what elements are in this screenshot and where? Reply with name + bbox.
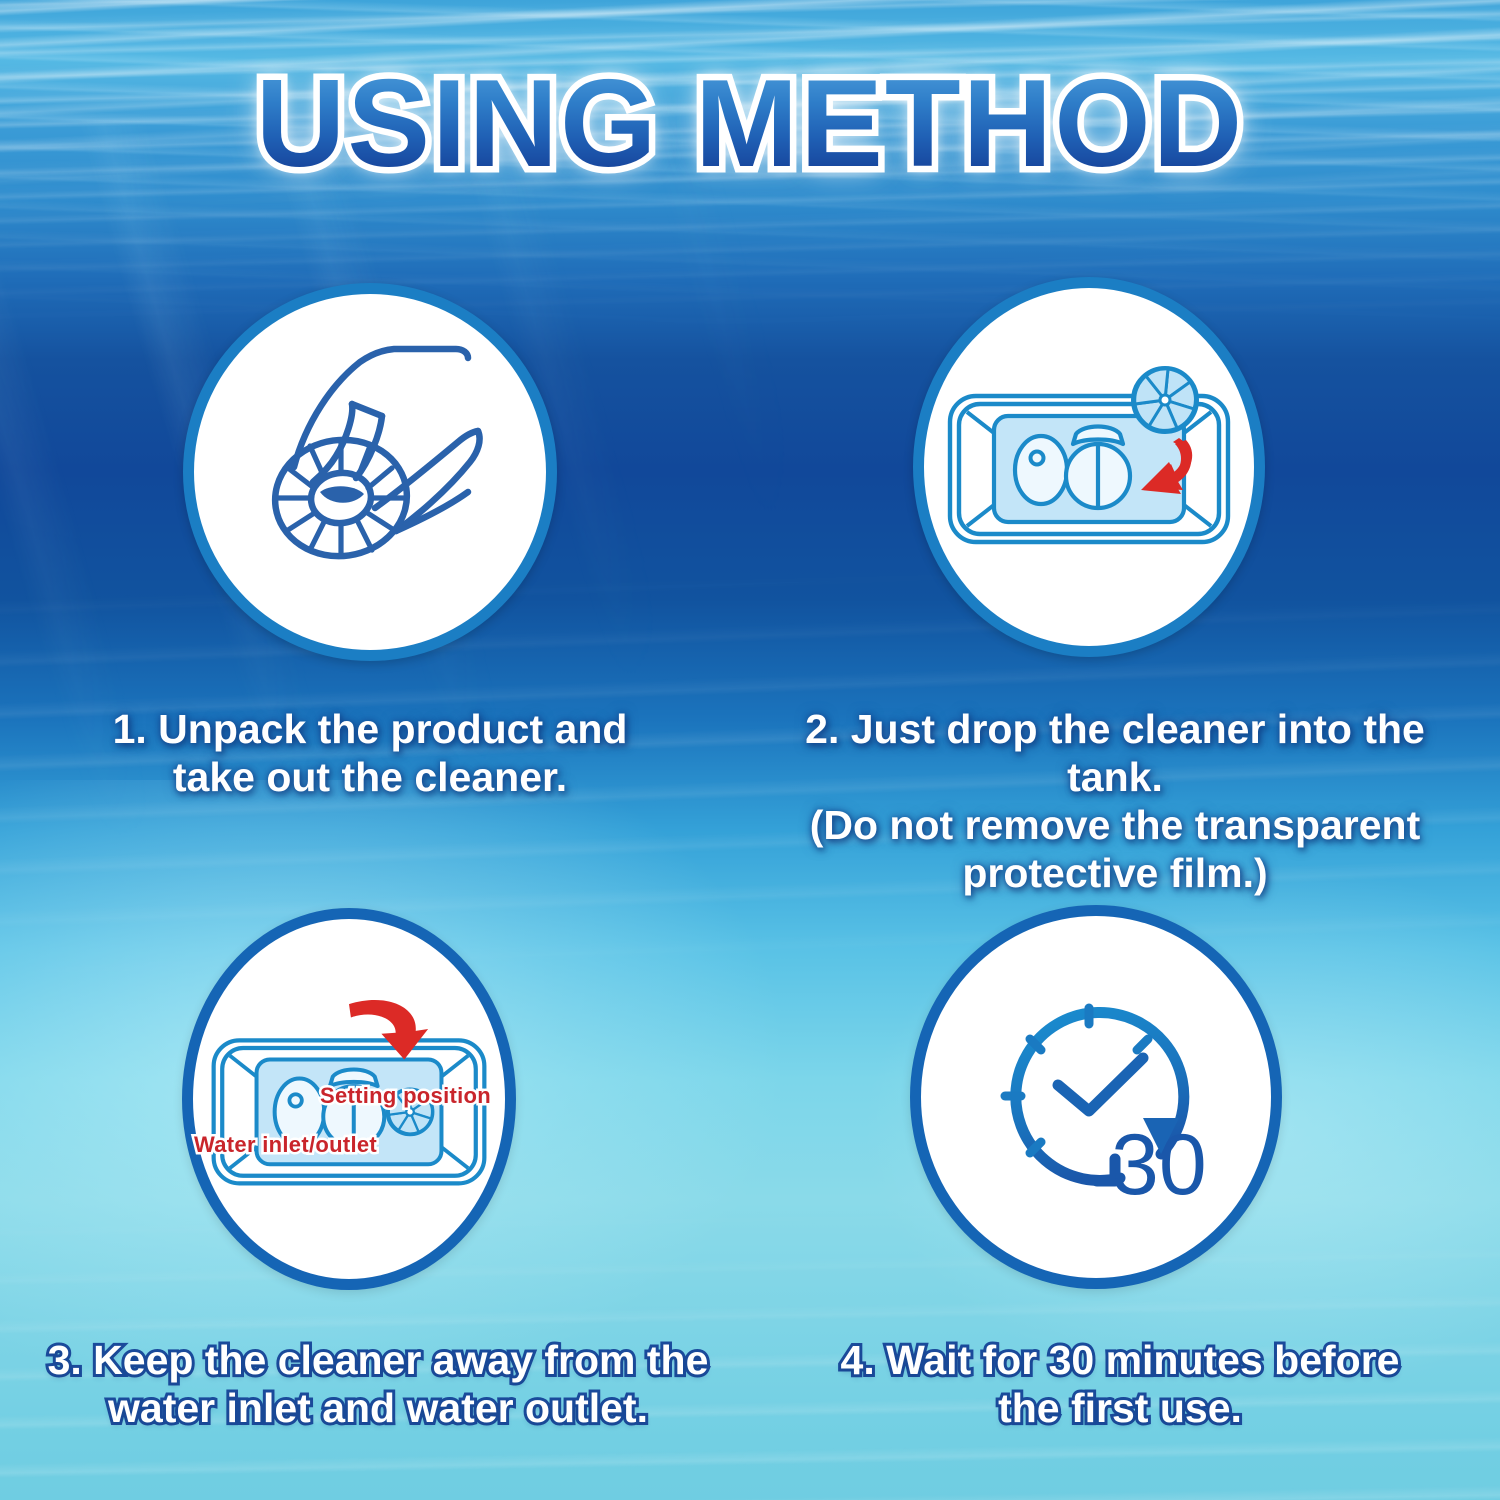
clock-30-minutes-icon: 30 bbox=[910, 905, 1282, 1289]
step-3-icon: Setting position Water inlet/outlet bbox=[182, 908, 516, 1290]
poster-root: USING METHOD USING METHOD bbox=[0, 0, 1500, 1500]
step-2-caption: 2. Just drop the cleaner into the tank. … bbox=[770, 706, 1460, 898]
step-2-icon bbox=[913, 277, 1265, 657]
water-inlet-outlet-label: Water inlet/outlet bbox=[194, 1132, 377, 1158]
step-1-caption: 1. Unpack the product and take out the c… bbox=[60, 706, 680, 802]
step-1-caption-line-2: take out the cleaner. bbox=[60, 754, 680, 802]
step-1-icon bbox=[183, 283, 557, 661]
setting-position-label: Setting position bbox=[320, 1083, 491, 1109]
step-4-icon: 30 bbox=[910, 905, 1282, 1289]
step-4-caption: 4. Wait for 30 minutes before the first … bbox=[800, 1337, 1440, 1433]
step-4-caption-line-2: the first use. bbox=[800, 1385, 1440, 1433]
step-1-caption-line-1: 1. Unpack the product and bbox=[60, 706, 680, 754]
step-2-caption-line-1: 2. Just drop the cleaner into the tank. bbox=[770, 706, 1460, 802]
step-4-caption-line-1: 4. Wait for 30 minutes before bbox=[800, 1337, 1440, 1385]
step-2-caption-line-3: protective film.) bbox=[770, 850, 1460, 898]
step-3-caption-line-2: water inlet and water outlet. bbox=[28, 1385, 728, 1433]
tank-drop-cleaner-icon bbox=[913, 277, 1265, 657]
step-3-caption: 3. Keep the cleaner away from the water … bbox=[28, 1337, 728, 1433]
page-title-fill: USING METHOD bbox=[256, 62, 1244, 186]
page-title: USING METHOD USING METHOD bbox=[0, 62, 1500, 186]
step-2-caption-line-2: (Do not remove the transparent bbox=[770, 802, 1460, 850]
step-3-caption-line-1: 3. Keep the cleaner away from the bbox=[28, 1337, 728, 1385]
clock-30-value: 30 bbox=[1111, 1117, 1207, 1213]
hand-holding-cleaner-disc-icon bbox=[183, 283, 557, 661]
